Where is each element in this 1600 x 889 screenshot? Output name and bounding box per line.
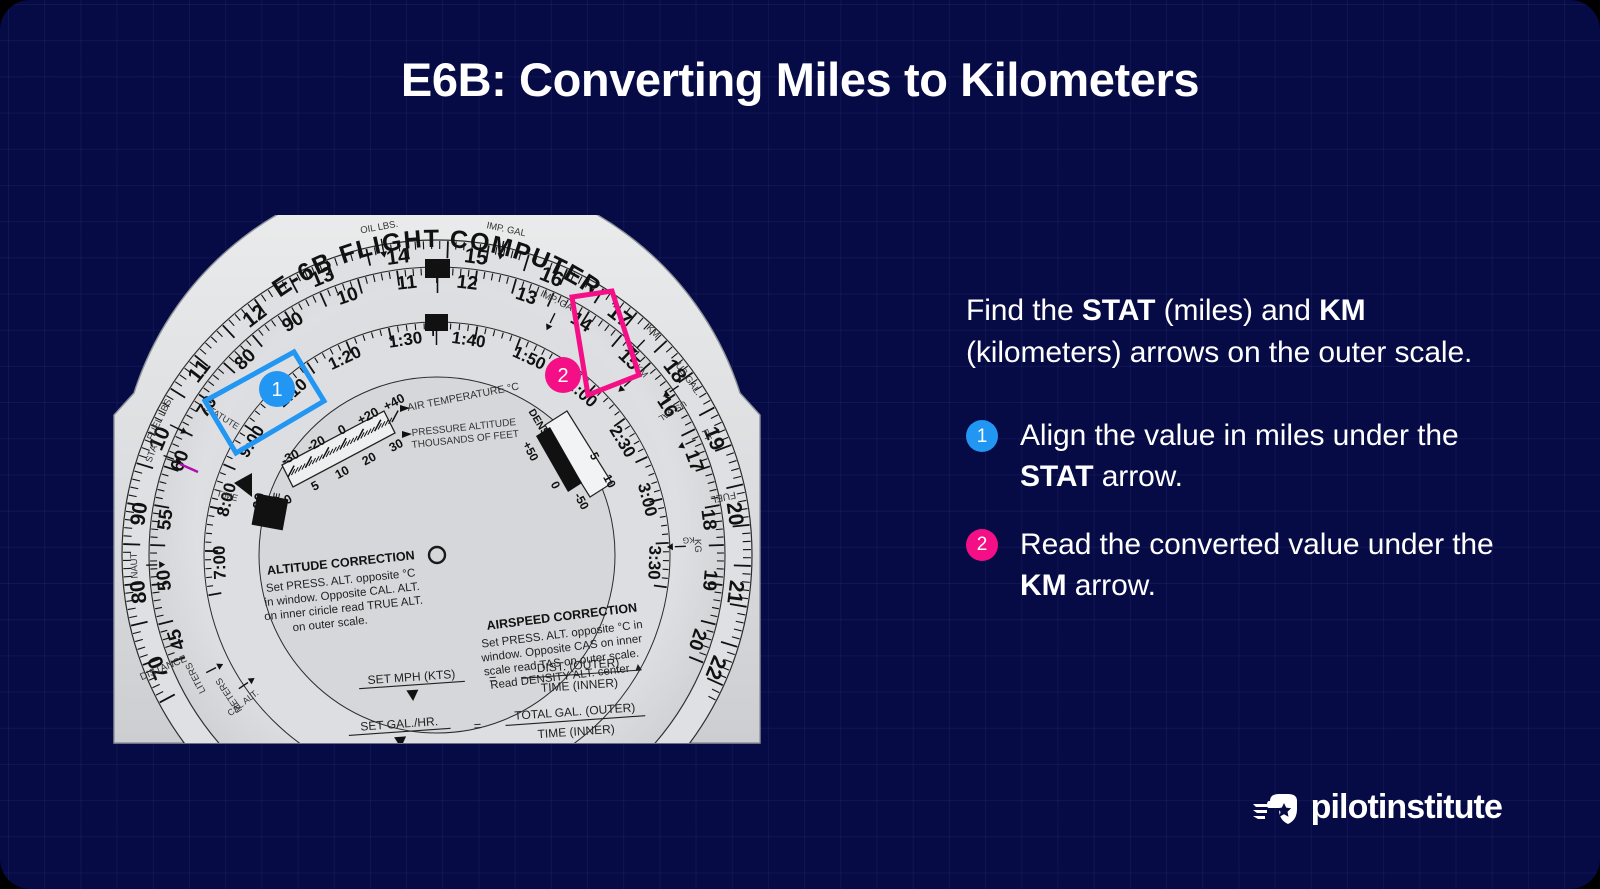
step-1-badge: 1 xyxy=(966,420,998,452)
step-1-part1: Align the value in miles under the xyxy=(1020,419,1459,452)
step-2-bold: KM xyxy=(1020,569,1066,602)
scale-number: 7:00 xyxy=(210,545,230,580)
svg-text:10: 10 xyxy=(429,316,443,331)
marker-badge-1-number: 1 xyxy=(271,379,282,401)
scale-number: 20 xyxy=(722,501,748,527)
steps-list: 1Align the value in miles under the STAT… xyxy=(966,415,1496,605)
instruction-copy: Find the STAT (miles) and KM (kilometers… xyxy=(966,290,1496,632)
lead-part2: (miles) and xyxy=(1155,294,1319,327)
step-2-part1: Read the converted value under the xyxy=(1020,528,1494,561)
step-1-bold: STAT xyxy=(1020,460,1093,493)
e6b-svg: 70809010111213141516171819202122 4550556… xyxy=(112,215,762,745)
step-2-part2: arrow. xyxy=(1066,569,1155,602)
lead-bold-km: KM xyxy=(1319,294,1365,327)
formula-0-equals: = xyxy=(488,671,497,686)
scale-number: 19 xyxy=(698,569,721,592)
page-title: E6B: Converting Miles to Kilometers xyxy=(0,52,1600,107)
scale-number: 50 xyxy=(153,569,176,592)
step-2: 2Read the converted value under the KM a… xyxy=(966,524,1496,606)
winged-shield-star-icon xyxy=(1252,791,1298,825)
scale-number: 11 xyxy=(396,272,419,295)
scale-name-label: KG xyxy=(682,535,695,546)
e6b-flight-computer-illustration: 70809010111213141516171819202122 4550556… xyxy=(112,215,762,745)
scale-number: 55 xyxy=(154,507,178,531)
step-2-badge: 2 xyxy=(966,529,998,561)
scale-number: 18 xyxy=(696,508,720,532)
scale-number: 90 xyxy=(126,501,152,527)
scale-number: 80 xyxy=(126,579,152,605)
scale-number: 12 xyxy=(456,272,479,295)
slide-canvas: E6B: Converting Miles to Kilometers xyxy=(0,0,1600,889)
step-1-part2: arrow. xyxy=(1093,460,1182,493)
index-mark-label: NAUT xyxy=(129,552,141,578)
lead-part1: Find the xyxy=(966,294,1082,327)
brand-logo[interactable]: pilotinstitute xyxy=(1252,788,1502,827)
lead-bold-stat: STAT xyxy=(1082,294,1155,327)
brand-wordmark: pilotinstitute xyxy=(1311,788,1502,827)
scale-number: 21 xyxy=(722,579,748,605)
step-1: 1Align the value in miles under the STAT… xyxy=(966,415,1496,497)
marker-badge-2-number: 2 xyxy=(557,365,568,387)
lead-part3: (kilometers) arrows on the outer scale. xyxy=(966,336,1472,369)
rate-window-60: 60 xyxy=(250,492,270,511)
svg-text:10: 10 xyxy=(429,261,446,278)
lead-paragraph: Find the STAT (miles) and KM (kilometers… xyxy=(966,290,1496,373)
scale-number: 3:30 xyxy=(644,545,664,580)
formula-1-equals: = xyxy=(473,718,482,733)
